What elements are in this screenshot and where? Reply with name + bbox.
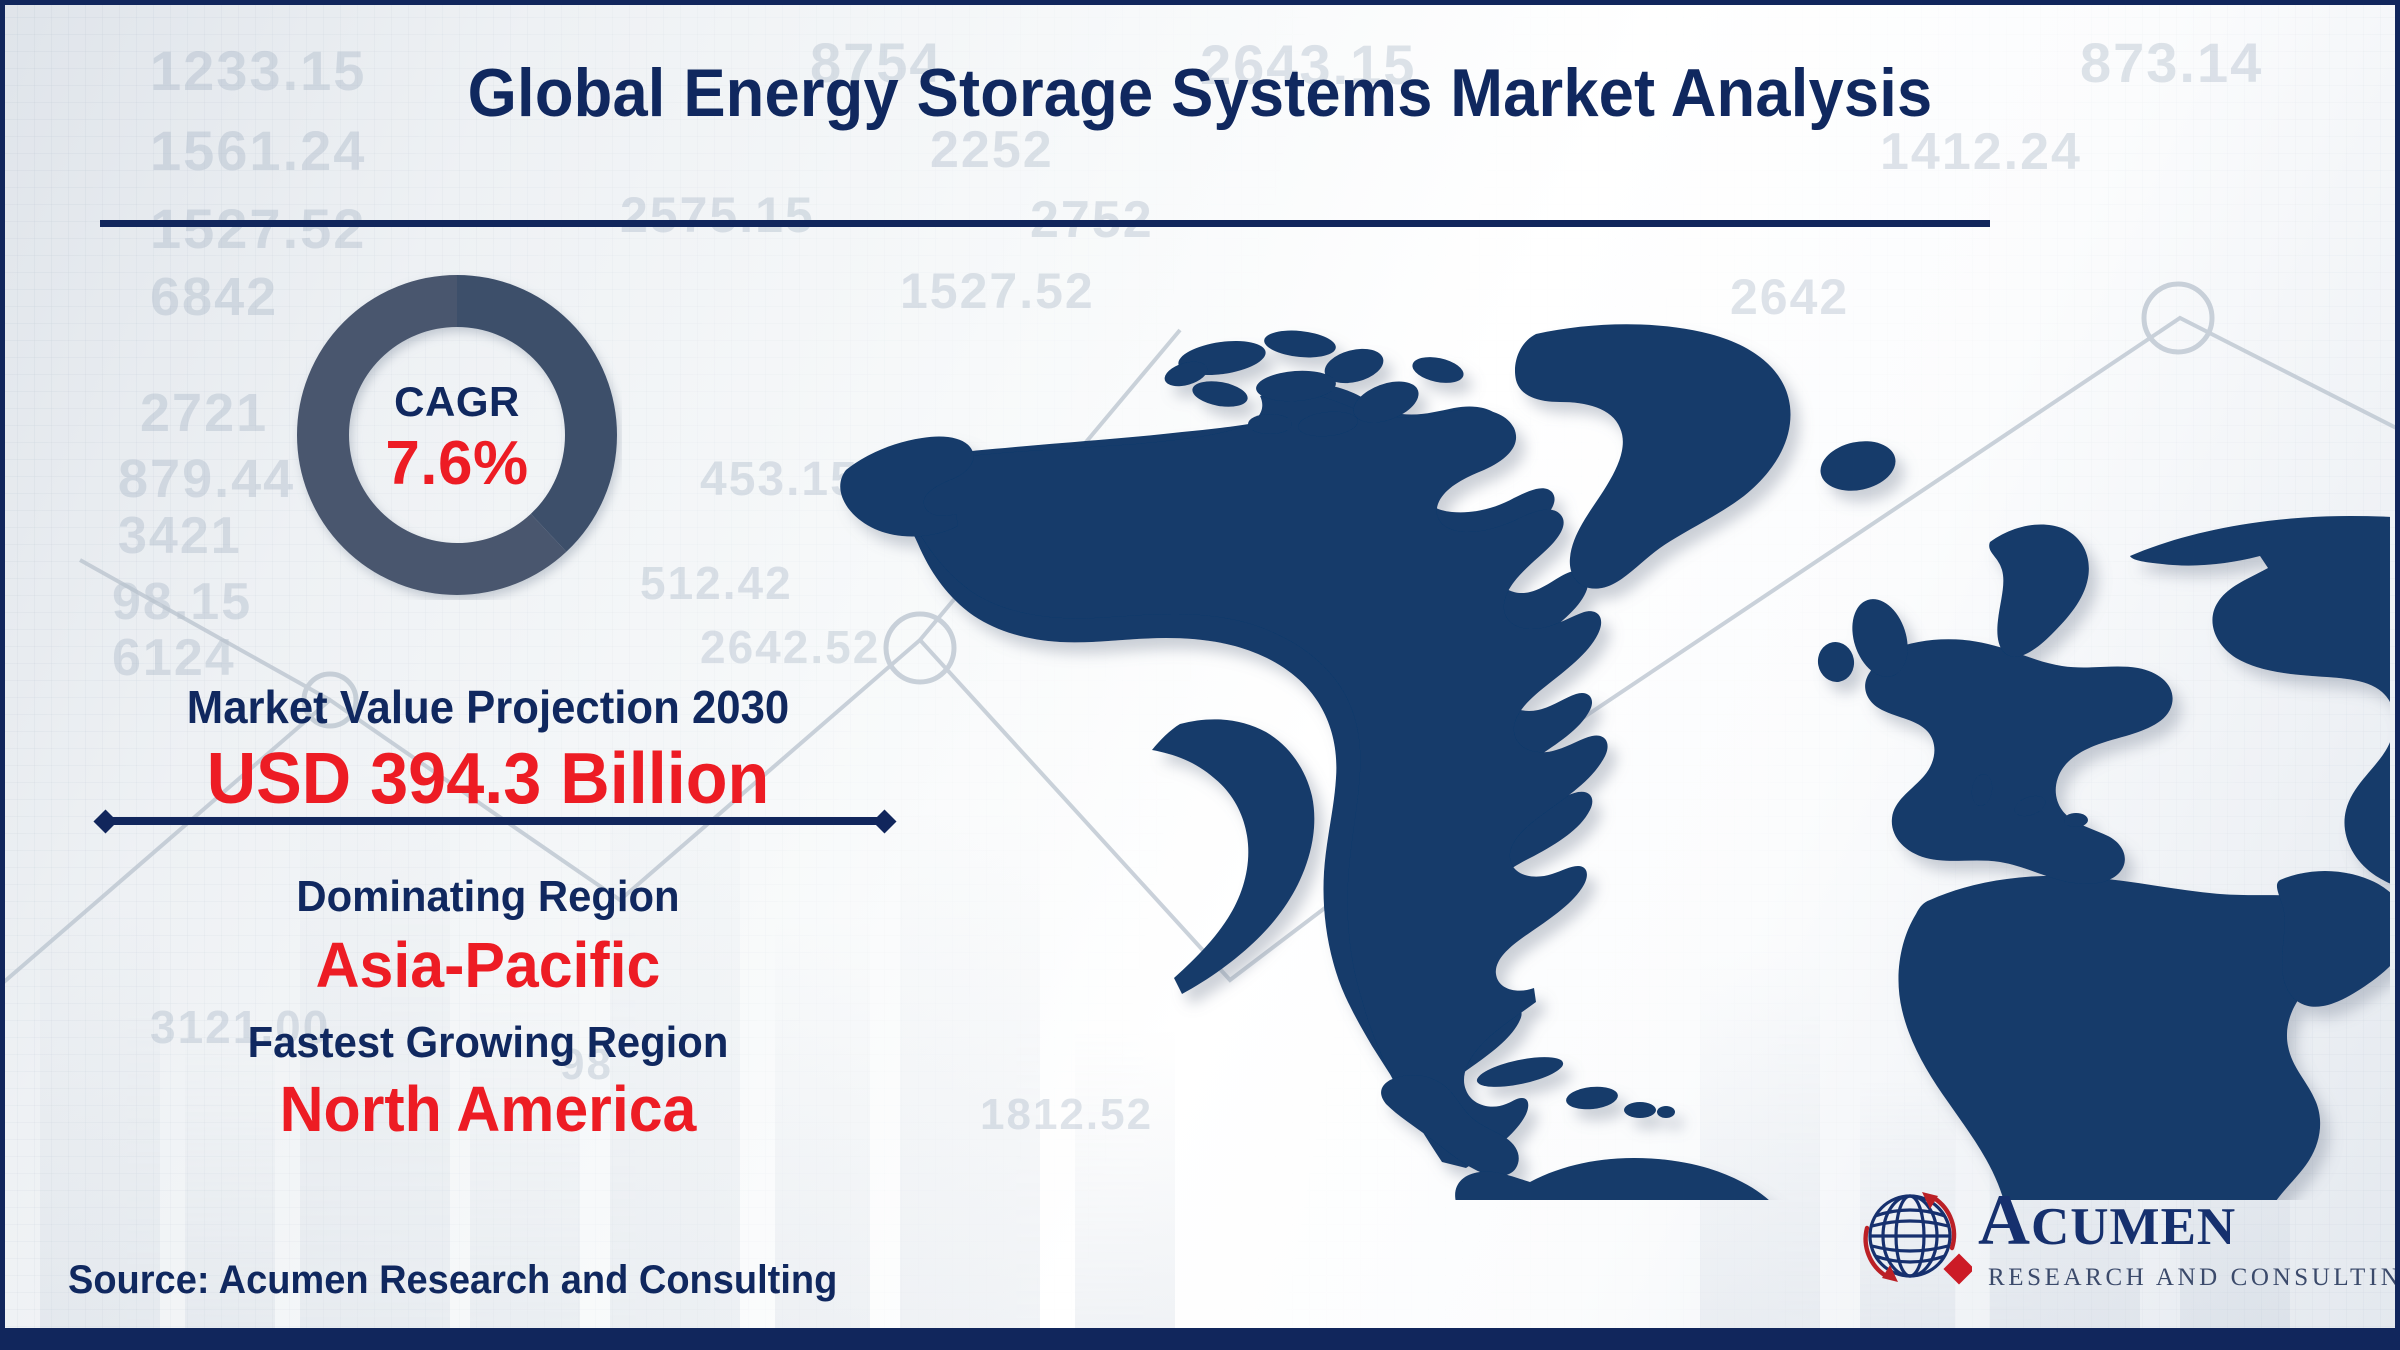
frame-right xyxy=(2395,0,2400,1350)
dominating-region-value: Asia-Pacific xyxy=(51,928,925,1002)
map-landmasses xyxy=(840,324,2390,1200)
page-title: Global Energy Storage Systems Market Ana… xyxy=(84,54,2316,132)
red-diamond-icon xyxy=(1943,1253,1972,1284)
market-value-label: Market Value Projection 2030 xyxy=(51,680,925,734)
landmass-europe xyxy=(1865,639,2173,884)
title-divider xyxy=(100,220,1990,227)
landmass-greenland xyxy=(1515,324,1791,588)
landmass-scandinavia xyxy=(1989,524,2089,656)
donut-label: CAGR xyxy=(292,378,622,426)
divider-bar xyxy=(113,817,877,825)
fastest-growing-region-value: North America xyxy=(51,1072,925,1146)
source-note: Source: Acumen Research and Consulting xyxy=(68,1258,837,1303)
brand-initial: A xyxy=(1978,1180,2031,1260)
brand-wordmark: ACUMEN xyxy=(1978,1182,2236,1265)
dominating-region-label: Dominating Region xyxy=(51,872,925,922)
brand-rest: CUMEN xyxy=(2031,1198,2236,1256)
landmass-arabia xyxy=(2277,871,2390,1007)
brand-tagline: RESEARCH AND CONSULTING xyxy=(1988,1264,2400,1292)
world-map-svg xyxy=(830,320,2390,1200)
frame-bottom xyxy=(0,1328,2400,1350)
acumen-logo: ACUMEN RESEARCH AND CONSULTING xyxy=(1860,1178,2330,1298)
globe-icon xyxy=(1860,1184,1972,1294)
world-map xyxy=(830,320,2390,1200)
frame-top xyxy=(0,0,2400,5)
landmass-iceland xyxy=(1816,435,1900,498)
infographic-canvas: 1233.15 8754 2643.15 873.14 1561.24 2252… xyxy=(0,0,2400,1350)
frame-left xyxy=(0,0,5,1350)
diamond-divider xyxy=(95,806,895,836)
cagr-donut-chart: CAGR 7.6% xyxy=(292,270,622,600)
donut-value: 7.6% xyxy=(292,428,622,499)
fastest-growing-region-label: Fastest Growing Region xyxy=(51,1018,925,1068)
